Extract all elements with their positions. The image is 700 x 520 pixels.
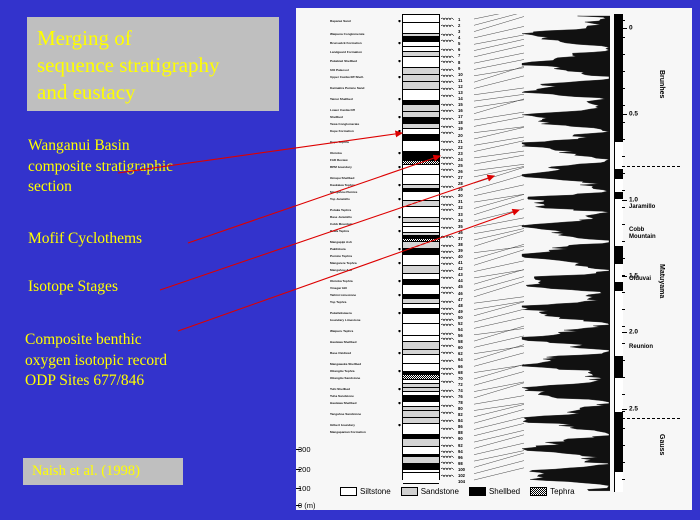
annotation-isotope-stages: Isotope Stages	[28, 278, 118, 296]
stratigraphic-unit-label: Top Tephra	[330, 301, 346, 304]
isotope-stage-number: 32	[458, 206, 463, 210]
cyclothem-symbol	[441, 131, 454, 134]
isotope-stage-number: 41	[458, 261, 463, 265]
unit-marker-icon	[398, 370, 401, 373]
legend-item: Siltstone	[340, 487, 391, 496]
unit-marker-icon	[398, 98, 401, 101]
cyclothem-symbol	[441, 323, 454, 326]
isotope-stage-number: 68	[458, 371, 463, 375]
isotope-stage-number: 27	[458, 176, 463, 180]
stratigraphic-unit-label: Mangapanian Formation	[330, 431, 366, 434]
age-tick-label: 2.5	[629, 406, 638, 413]
isotope-stage-number: 1	[458, 18, 460, 22]
isotope-stage-number: 88	[458, 431, 463, 435]
stratigraphic-unit-names: Rapanui SandWaipuna ConglomerateBrunswic…	[330, 16, 404, 466]
isotope-stage-number: 44	[458, 279, 463, 283]
age-minor-tick	[622, 275, 625, 276]
stratigraphic-unit-label: Ototoka Tephra	[330, 280, 353, 283]
stratigraphic-unit-label: Vinegar Hill	[330, 287, 347, 290]
cyclothem-symbol	[441, 60, 454, 63]
unit-marker-icon	[398, 76, 401, 79]
age-minor-tick	[622, 156, 625, 157]
isotope-stage-number: 80	[458, 407, 463, 411]
isotope-stage-number: 37	[458, 237, 463, 241]
isotope-stage-number: 2	[458, 24, 460, 28]
cyclothem-symbol	[441, 344, 454, 347]
cyclothem-symbol	[441, 404, 454, 407]
isotope-stage-number: 11	[458, 79, 462, 83]
cyclothem-symbol	[441, 286, 454, 289]
stratigraphic-unit-label: Lower Castlecliff	[330, 109, 355, 112]
unit-marker-icon	[398, 166, 401, 169]
isotope-stage-number: 35	[458, 225, 463, 229]
isotope-stage-number: 70	[458, 377, 463, 381]
isotope-stage-number: 31	[458, 200, 463, 204]
stratigraphic-unit-label: Tangahoe Sandstone	[330, 413, 361, 416]
cyclothem-symbol	[441, 395, 454, 398]
isotope-stage-number: 9	[458, 67, 460, 71]
legend-item: Sandstone	[401, 487, 459, 496]
age-minor-tick	[622, 479, 625, 480]
stratigraphic-unit-label: Base Oxidized	[330, 352, 351, 355]
annotation-line: Wanganui Basin	[28, 136, 173, 157]
age-tick-label: 0	[629, 25, 633, 32]
cyclothem-symbol	[441, 276, 454, 279]
subchron-label: Jaramillo	[629, 204, 655, 211]
isotope-stage-number: 43	[458, 273, 463, 277]
cyclothem-symbol	[441, 351, 454, 354]
stratigraphic-unit-label: Kupe Formation	[330, 130, 354, 133]
age-tick	[622, 28, 627, 29]
isotope-stage-number: 29	[458, 188, 463, 192]
age-minor-tick	[622, 37, 625, 38]
cyclothem-symbol	[441, 203, 454, 206]
stratigraphic-unit-label: Upper Castlecliff Shell.	[330, 76, 364, 79]
stratigraphic-unit-label: Mangahou Ash	[330, 269, 352, 272]
isotope-stage-number: 36	[458, 231, 463, 235]
cyclothem-symbol	[441, 389, 454, 392]
isotope-stage-number: 78	[458, 401, 463, 405]
stratigraphic-unit-label: Tuha Sandstone	[330, 395, 354, 398]
cyclothem-symbol	[441, 162, 454, 165]
legend-item: Shellbed	[469, 487, 520, 496]
stratigraphic-unit-label: FAD Review	[330, 159, 348, 162]
cyclothem-symbol	[441, 467, 454, 470]
stratigraphic-unit-label: Hautawa Shellbed	[330, 341, 356, 344]
unit-marker-icon	[398, 312, 401, 315]
cyclothem-column	[440, 14, 456, 480]
stratigraphic-unit-label: Waipuru Tephra	[330, 330, 353, 333]
stratigraphic-unit-label: Kaukatea Tephra	[330, 184, 355, 187]
annotation-line: Isotope Stages	[28, 278, 118, 296]
epoch-boundary-brunhes-matuyama	[622, 166, 680, 167]
cyclothem-symbol	[441, 269, 454, 272]
isotope-stage-number: 76	[458, 395, 463, 399]
citation-text: Naish et al. (1998)	[32, 463, 140, 480]
age-tick	[622, 409, 627, 410]
cyclothem-symbol	[441, 185, 454, 188]
isotope-stage-number: 84	[458, 419, 463, 423]
legend-label: Sandstone	[421, 487, 459, 496]
isotope-stage-number: 14	[458, 97, 463, 101]
unit-marker-icon	[398, 216, 401, 219]
annotation-line: composite stratigraphic	[28, 157, 173, 178]
cyclothem-symbol	[441, 109, 454, 112]
stratigraphic-unit-label: Cobb Mountain	[330, 223, 353, 226]
legend-swatch-sand	[401, 487, 418, 496]
isotope-stage-number: 48	[458, 304, 463, 308]
isotope-stage-number: 15	[458, 103, 463, 107]
title-line-2: sequence stratigraphy	[37, 52, 279, 79]
stratigraphic-unit-label: Top Jaramillo	[330, 198, 350, 201]
isotope-stage-number: 7	[458, 54, 460, 58]
slide: Merging of sequence stratigraphy and eus…	[0, 0, 700, 520]
cyclothem-symbol	[441, 87, 454, 90]
cyclothem-symbol	[441, 39, 454, 42]
legend-label: Tephra	[550, 487, 574, 496]
cyclothem-symbol	[441, 217, 454, 220]
stratigraphic-unit-label: Brunswick Formation	[330, 42, 362, 45]
stratigraphic-unit-label: Potaka Tephra	[330, 209, 351, 212]
lithology-column	[402, 14, 440, 480]
age-minor-tick	[622, 139, 625, 140]
stratigraphic-unit-label: Tuhi Shellbed	[330, 388, 350, 391]
stratigraphic-unit-label: Pukefaikuwera	[330, 312, 352, 315]
epoch-label: Gauss	[658, 434, 665, 455]
stratigraphic-unit-label: Omapu Shellbed	[330, 177, 354, 180]
age-axis: 00.51.01.52.02.5JaramilloCobbMountainOld…	[622, 14, 682, 492]
cyclothem-symbol	[441, 436, 454, 439]
unit-marker-icon	[398, 402, 401, 405]
unit-marker-icon	[398, 152, 401, 155]
age-minor-tick	[622, 258, 625, 259]
stratigraphic-unit-label: Kupe Tephra	[330, 141, 349, 144]
isotope-stage-number: 10	[458, 73, 463, 77]
isotope-stage-number: 28	[458, 182, 463, 186]
unit-marker-icon	[398, 388, 401, 391]
cyclothem-symbol	[441, 148, 454, 151]
cyclothem-symbol	[441, 175, 454, 178]
lithology-bed	[403, 472, 439, 484]
isotope-stage-number: 86	[458, 425, 463, 429]
isotope-stage-number: 23	[458, 152, 463, 156]
subchron-label: CobbMountain	[629, 227, 656, 240]
cyclothem-symbol	[441, 55, 454, 58]
isotope-stage-number: 17	[458, 115, 463, 119]
stratigraphic-figure: 3002001000 (m) Rapanui SandWaipuna Congl…	[296, 8, 692, 510]
isotope-stage-number: 100	[458, 468, 465, 472]
unit-marker-icon	[398, 230, 401, 233]
cyclothem-symbol	[441, 226, 454, 229]
isotope-stage-number: 46	[458, 292, 463, 296]
isotope-stage-number: 45	[458, 285, 463, 289]
age-tick	[622, 200, 627, 201]
cyclothem-symbol	[441, 318, 454, 321]
isotope-stage-number: 26	[458, 170, 463, 174]
stratigraphic-unit-label: Ototoka	[330, 152, 342, 155]
age-minor-tick	[622, 88, 625, 89]
cyclothem-symbol	[441, 250, 454, 253]
isotope-stage-number: 8	[458, 61, 460, 65]
isotope-stage-number: 50	[458, 316, 463, 320]
legend-swatch-shell	[469, 487, 486, 496]
age-minor-tick	[622, 20, 625, 21]
unit-marker-icon	[398, 184, 401, 187]
age-tick	[622, 276, 627, 277]
age-minor-tick	[622, 394, 625, 395]
isotope-stage-number: 12	[458, 85, 463, 89]
isotope-stage-number: 60	[458, 346, 463, 350]
isotope-stage-number: 19	[458, 127, 463, 131]
epoch-boundary-matuyama-gauss	[622, 418, 680, 419]
age-minor-tick	[622, 462, 625, 463]
age-minor-tick	[622, 411, 625, 412]
cyclothem-symbol	[441, 444, 454, 447]
cyclothem-symbol	[441, 68, 454, 71]
cyclothem-symbol	[441, 337, 454, 340]
isotope-stage-number: 20	[458, 134, 463, 138]
isotope-stage-number: 21	[458, 140, 463, 144]
stratigraphic-unit-label: Taihini Limestone	[330, 294, 356, 297]
cyclothem-symbol	[441, 33, 454, 36]
unit-marker-icon	[398, 60, 401, 63]
isotope-stage-number: 30	[458, 194, 463, 198]
isotope-stage-number: 33	[458, 213, 463, 217]
isotope-stage-number: 98	[458, 462, 463, 466]
legend-label: Shellbed	[489, 487, 520, 496]
cyclothem-symbol	[441, 244, 454, 247]
unit-marker-icon	[398, 294, 401, 297]
age-tick	[622, 332, 627, 333]
age-minor-tick	[622, 343, 625, 344]
cyclothem-symbol	[441, 461, 454, 464]
stratigraphic-unit-label: Otiangitu Sandstone	[330, 377, 360, 380]
cyclothem-symbol	[441, 427, 454, 430]
age-minor-tick	[622, 360, 625, 361]
cyclothem-symbol	[441, 262, 454, 265]
isotope-stage-number: 54	[458, 328, 463, 332]
stratigraphic-unit-label: Tainui Shellbed	[330, 98, 353, 101]
subchron-label: Reunion	[629, 344, 653, 351]
isotope-stage-number: 49	[458, 310, 463, 314]
annotation-line: Composite benthic	[25, 330, 167, 351]
stratigraphic-unit-label: Pakihikura	[330, 248, 346, 251]
unit-marker-icon	[398, 42, 401, 45]
depth-axis: 3002001000 (m)	[296, 8, 330, 492]
stratigraphic-unit-label: 640 Paleosol	[330, 69, 349, 72]
isotope-stage-number: 42	[458, 267, 463, 271]
depth-tick: 200	[298, 465, 311, 474]
cyclothem-symbol	[441, 312, 454, 315]
age-minor-tick	[622, 445, 625, 446]
age-tick-label: 1.0	[629, 197, 638, 204]
annotation-benthic-record: Composite benthic oxygen isotopic record…	[25, 330, 167, 392]
cyclothem-symbol	[441, 411, 454, 414]
annotation-motif-cyclothems: Mofif Cyclothems	[28, 230, 142, 248]
stratigraphic-unit-label: boundary Limestone	[330, 319, 360, 322]
isotope-stage-number: 96	[458, 456, 463, 460]
title-line-3: and eustacy	[37, 79, 279, 106]
subchron-label: Olduvai	[629, 276, 651, 283]
legend-label: Siltstone	[360, 487, 391, 496]
isotope-stage-number: 3	[458, 30, 460, 34]
stratigraphic-unit-label: Hautawa Shellbed	[330, 402, 356, 405]
age-minor-tick	[622, 173, 625, 174]
cyclothem-symbol	[441, 300, 454, 303]
stratigraphic-unit-label: Mangaweka Shellbed	[330, 363, 361, 366]
isotope-stage-number: 38	[458, 243, 463, 247]
correlation-tie-lines	[474, 14, 524, 484]
cyclothem-symbol	[441, 450, 454, 453]
unit-marker-icon	[398, 352, 401, 355]
depth-tick: 0 (m)	[298, 501, 316, 510]
isotope-stage-number: 64	[458, 358, 463, 362]
cyclothem-symbol	[441, 455, 454, 458]
isotope-stage-number: 34	[458, 219, 463, 223]
isotope-stage-number: 4	[458, 36, 460, 40]
legend-item: Tephra	[530, 487, 574, 496]
annotation-line: section	[28, 177, 173, 198]
cyclothem-symbol	[441, 74, 454, 77]
unit-marker-icon	[398, 198, 401, 201]
isotope-stage-number: 72	[458, 383, 463, 387]
unit-marker-icon	[398, 20, 401, 23]
unit-marker-icon	[398, 116, 401, 119]
unit-marker-icon	[398, 262, 401, 265]
cyclothem-symbol	[441, 474, 454, 477]
age-minor-tick	[622, 309, 625, 310]
isotope-stage-number: 104	[458, 480, 465, 484]
cyclothem-symbol	[441, 140, 454, 143]
stratigraphic-unit-label: Mangarere Tephra	[330, 262, 357, 265]
isotope-stage-number: 66	[458, 365, 463, 369]
lithology-legend: SiltstoneSandstoneShellbedTephra	[340, 485, 575, 498]
cyclothem-symbol	[441, 17, 454, 20]
isotope-stage-number: 82	[458, 413, 463, 417]
isotope-stage-number: 52	[458, 322, 463, 326]
isotope-stage-number: 22	[458, 146, 463, 150]
cyclothem-symbol	[441, 80, 454, 83]
age-minor-tick	[622, 190, 625, 191]
stratigraphic-unit-label: BPM boundary	[330, 166, 352, 169]
isotope-stage-number: 39	[458, 249, 463, 253]
age-minor-tick	[622, 377, 625, 378]
annotation-line: oxygen isotopic record	[25, 351, 167, 372]
age-minor-tick	[622, 428, 625, 429]
stratigraphic-unit-label: Base Jaramillo	[330, 216, 352, 219]
age-minor-tick	[622, 54, 625, 55]
unit-marker-icon	[398, 280, 401, 283]
isotope-stage-number: 18	[458, 121, 463, 125]
age-tick	[622, 114, 627, 115]
title-line-1: Merging of	[37, 25, 279, 52]
cyclothem-symbol	[441, 208, 454, 211]
cyclothem-symbol	[441, 195, 454, 198]
cyclothem-symbol	[441, 419, 454, 422]
annotation-line: ODP Sites 677/846	[25, 371, 167, 392]
citation-box: Naish et al. (1998)	[23, 458, 183, 485]
isotope-stage-number: 58	[458, 340, 463, 344]
cyclothem-symbol	[441, 256, 454, 259]
isotope-stage-number: 90	[458, 437, 463, 441]
isotope-stage-number: 47	[458, 298, 463, 302]
stratigraphic-unit-label: Waipuna Conglomerate	[330, 33, 364, 36]
epoch-label: Brunhes	[658, 70, 665, 98]
cyclothem-symbol	[441, 359, 454, 362]
cyclothem-symbol	[441, 372, 454, 375]
age-minor-tick	[622, 122, 625, 123]
legend-swatch-silt	[340, 487, 357, 496]
depth-tick: 300	[298, 445, 311, 454]
unit-marker-icon	[398, 130, 401, 133]
isotope-stage-number: 102	[458, 474, 465, 478]
isotope-stage-number: 92	[458, 444, 463, 448]
cyclothem-symbol	[441, 380, 454, 383]
isotope-stage-number: 94	[458, 450, 463, 454]
unit-marker-icon	[398, 330, 401, 333]
isotope-stage-number: 5	[458, 42, 460, 46]
isotope-stage-number: 40	[458, 255, 463, 259]
unit-marker-icon	[398, 424, 401, 427]
cyclothem-symbol	[441, 48, 454, 51]
isotope-stage-number: 56	[458, 334, 463, 338]
age-minor-tick	[622, 326, 625, 327]
age-minor-tick	[622, 292, 625, 293]
epoch-label: Matuyama	[658, 264, 665, 298]
cyclothem-symbol	[441, 168, 454, 171]
age-minor-tick	[622, 71, 625, 72]
depth-tick: 100	[298, 484, 311, 493]
isotope-stage-number: 24	[458, 158, 463, 162]
age-tick-label: 2.0	[629, 329, 638, 336]
age-minor-tick	[622, 207, 625, 208]
cyclothem-symbol	[441, 103, 454, 106]
age-minor-tick	[622, 241, 625, 242]
cyclothem-symbol	[441, 24, 454, 27]
isotope-stage-number: 13	[458, 91, 463, 95]
stratigraphic-unit-label: Pumice Tephra	[330, 255, 352, 258]
stratigraphic-unit-label: Otiangitu Tephra	[330, 370, 355, 373]
stratigraphic-unit-label: Mangahou Pumice	[330, 191, 357, 194]
stratigraphic-unit-label: Mangapipi Ash	[330, 241, 352, 244]
cyclothem-symbol	[441, 156, 454, 159]
isotope-stage-number: 62	[458, 352, 463, 356]
cyclothem-symbol	[441, 117, 454, 120]
cyclothem-symbol	[441, 307, 454, 310]
annotation-line: Mofif Cyclothems	[28, 230, 142, 248]
cyclothem-symbol	[441, 291, 454, 294]
stratigraphic-unit-label: Shellbed	[330, 116, 343, 119]
age-minor-tick	[622, 224, 625, 225]
stratigraphic-unit-label: Pukekiwi Shellbed	[330, 60, 357, 63]
isotope-stage-number: 74	[458, 389, 463, 393]
stratigraphic-unit-label: Landguard Formation	[330, 51, 362, 54]
isotope-stage-number: 16	[458, 109, 463, 113]
unit-marker-icon	[398, 248, 401, 251]
age-tick-label: 0.5	[629, 111, 638, 118]
cyclothem-symbol	[441, 235, 454, 238]
age-minor-tick	[622, 105, 625, 106]
stratigraphic-unit-label: Rapanui Sand	[330, 20, 351, 23]
annotation-wanganui-basin: Wanganui Basin composite stratigraphic s…	[28, 136, 173, 198]
cyclothem-symbol	[441, 94, 454, 97]
oxygen-isotope-curve	[518, 14, 610, 492]
isotope-stage-number: 6	[458, 48, 460, 52]
stratigraphic-unit-label: Gilbert boundary	[330, 424, 355, 427]
cyclothem-symbol	[441, 367, 454, 370]
stratigraphic-unit-label: Rewa Tephra	[330, 230, 349, 233]
cyclothem-symbol	[441, 125, 454, 128]
